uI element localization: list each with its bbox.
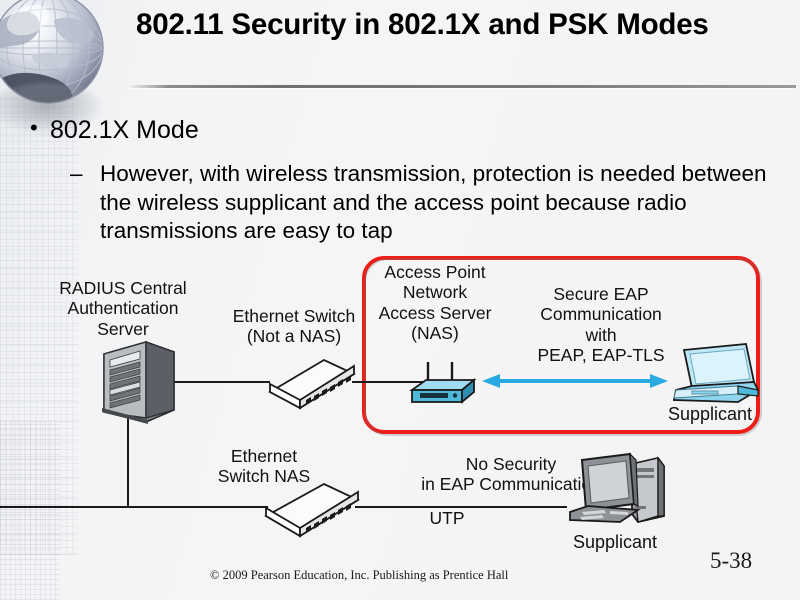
title-divider <box>128 85 796 88</box>
page-number: 5-38 <box>710 548 752 574</box>
bullet-level1-text: 802.1X Mode <box>50 116 199 144</box>
network-diagram: RADIUS Central Authentication Server Eth… <box>0 250 800 560</box>
ethernet-switch-icon-bottom <box>262 480 362 547</box>
bullet-level1: •802.1X Mode <box>30 115 199 145</box>
slide-canvas: 802.11 Security in 802.1X and PSK Modes … <box>0 0 800 600</box>
laptop-icon <box>666 342 760 417</box>
slide-title: 802.11 Security in 802.1X and PSK Modes <box>136 6 766 43</box>
server-tower-icon <box>96 338 180 429</box>
bullet-marker-icon: • <box>30 115 50 141</box>
bullet-level2: – However, with wireless transmission, p… <box>70 160 770 246</box>
desktop-computer-icon <box>564 450 668 541</box>
label-access-point-nas: Access Point Network Access Server (NAS) <box>362 262 508 343</box>
sub-bullet-marker-icon: – <box>70 160 83 189</box>
wire-left-to-switch-nas <box>0 506 268 508</box>
label-utp: UTP <box>404 508 490 528</box>
wireless-access-point-icon <box>404 358 482 415</box>
ethernet-switch-icon-top <box>266 356 358 417</box>
label-radius-server: RADIUS Central Authentication Server <box>28 278 218 339</box>
copyright-notice: © 2009 Pearson Education, Inc. Publishin… <box>210 568 630 584</box>
bullet-level2-text: However, with wireless transmission, pro… <box>100 160 770 246</box>
label-ethernet-switch-not-nas: Ethernet Switch (Not a NAS) <box>206 306 382 347</box>
double-headed-arrow-icon <box>482 374 668 388</box>
